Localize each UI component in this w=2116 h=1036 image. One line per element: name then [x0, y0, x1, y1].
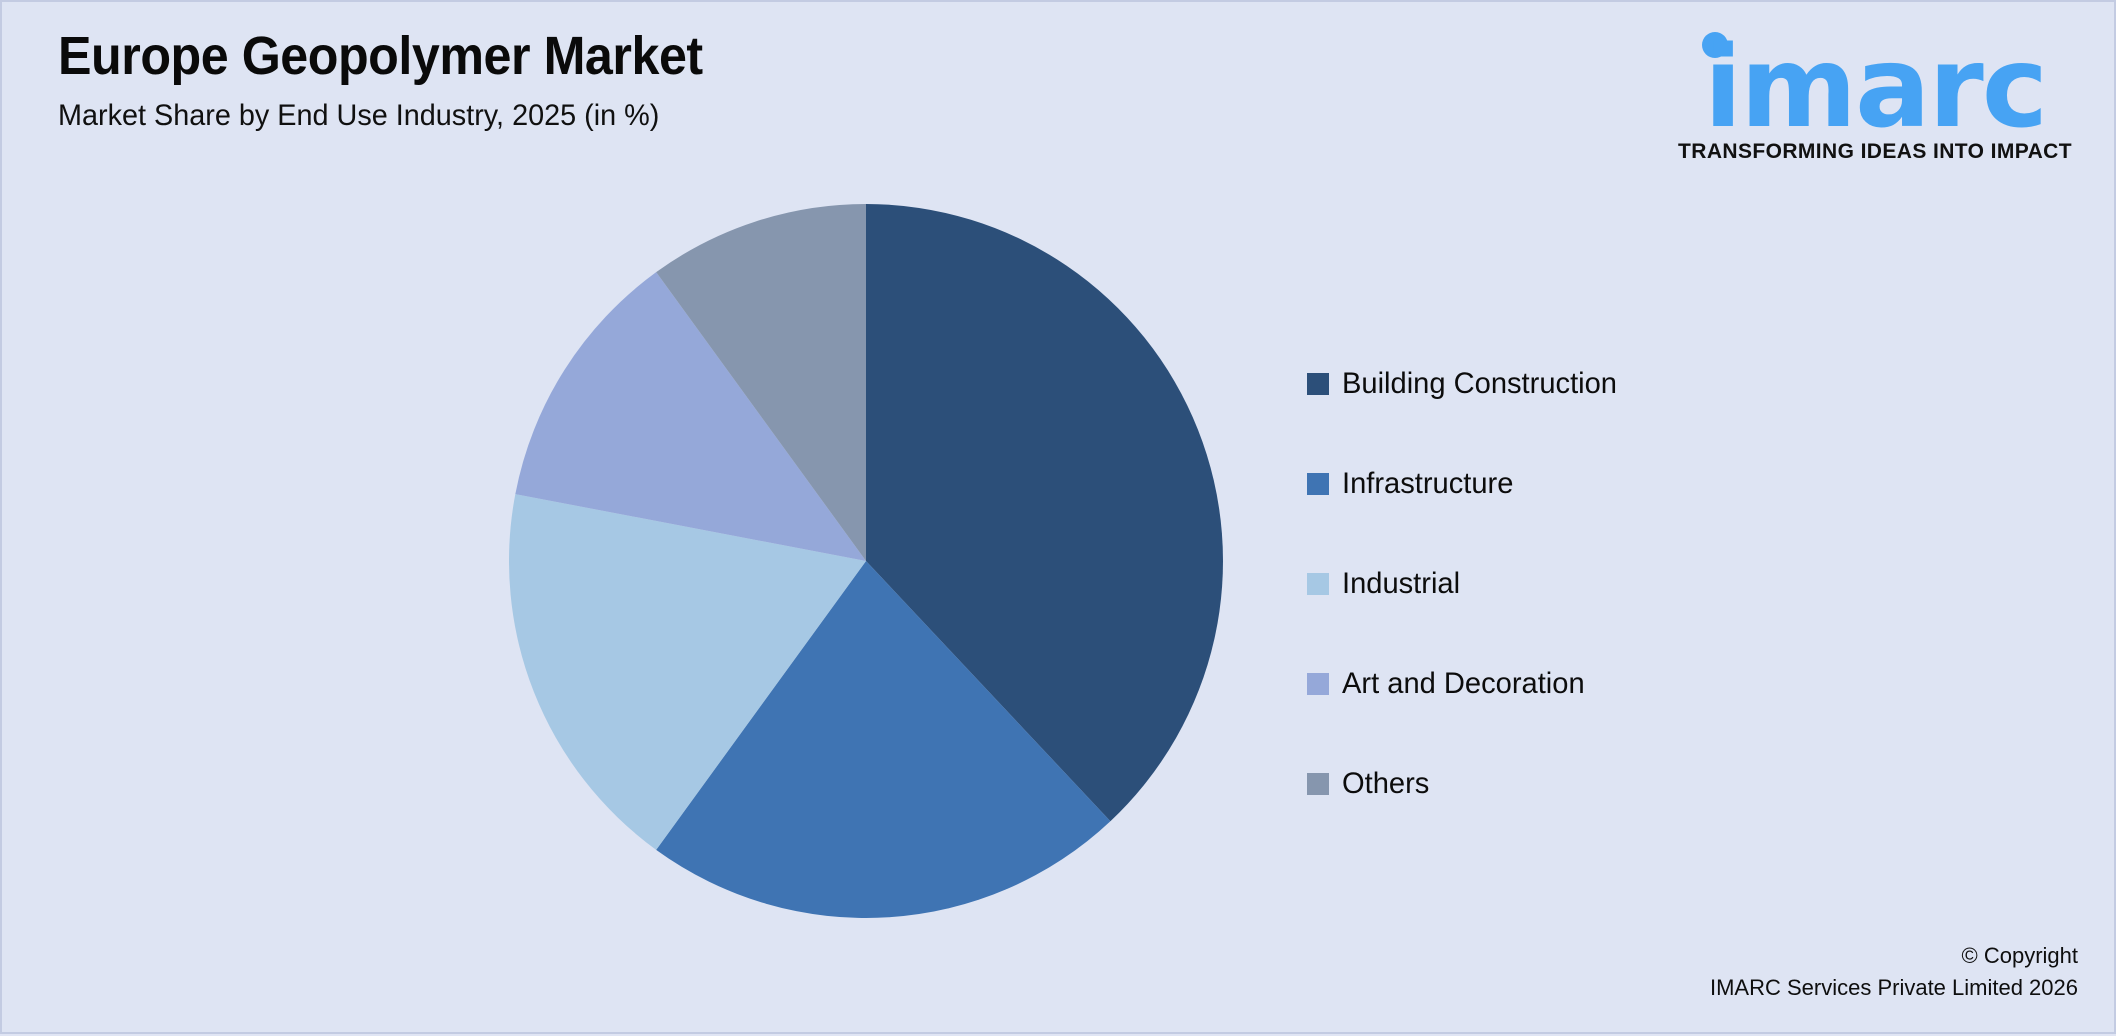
- legend-item[interactable]: Industrial: [1307, 534, 1907, 634]
- legend-item[interactable]: Others: [1307, 734, 1907, 834]
- copyright-line-1: © Copyright: [1710, 940, 2078, 972]
- legend-item-label: Infrastructure: [1342, 467, 1513, 501]
- copyright-line-2: IMARC Services Private Limited 2026: [1710, 972, 2078, 1004]
- imarc-logo: imarc TRANSFORMING IDEAS INTO IMPACT: [1670, 20, 2080, 148]
- legend-item[interactable]: Infrastructure: [1307, 434, 1907, 534]
- copyright-block: © Copyright IMARC Services Private Limit…: [1710, 940, 2078, 1004]
- legend-item[interactable]: Building Construction: [1307, 334, 1907, 434]
- legend-swatch-icon: [1307, 573, 1329, 595]
- logo-tagline: TRANSFORMING IDEAS INTO IMPACT: [1670, 140, 2080, 164]
- chart-page: Europe Geopolymer Market Market Share by…: [0, 0, 2116, 1034]
- legend-swatch-icon: [1307, 673, 1329, 695]
- legend-swatch-icon: [1307, 473, 1329, 495]
- legend-item-label: Art and Decoration: [1342, 667, 1585, 701]
- logo-wordmark: imarc: [1670, 32, 2080, 144]
- pie-chart-area: [2, 2, 1282, 1036]
- chart-legend: Building ConstructionInfrastructureIndus…: [1307, 334, 1907, 834]
- legend-swatch-icon: [1307, 373, 1329, 395]
- pie-slice-group: [509, 204, 1223, 918]
- legend-item-label: Industrial: [1342, 567, 1460, 601]
- logo-wordmark-wrap: imarc TRANSFORMING IDEAS INTO IMPACT: [1670, 20, 2080, 148]
- legend-swatch-icon: [1307, 773, 1329, 795]
- legend-item-label: Building Construction: [1342, 367, 1617, 401]
- pie-chart: [509, 204, 1223, 918]
- legend-item-label: Others: [1342, 767, 1429, 801]
- legend-item[interactable]: Art and Decoration: [1307, 634, 1907, 734]
